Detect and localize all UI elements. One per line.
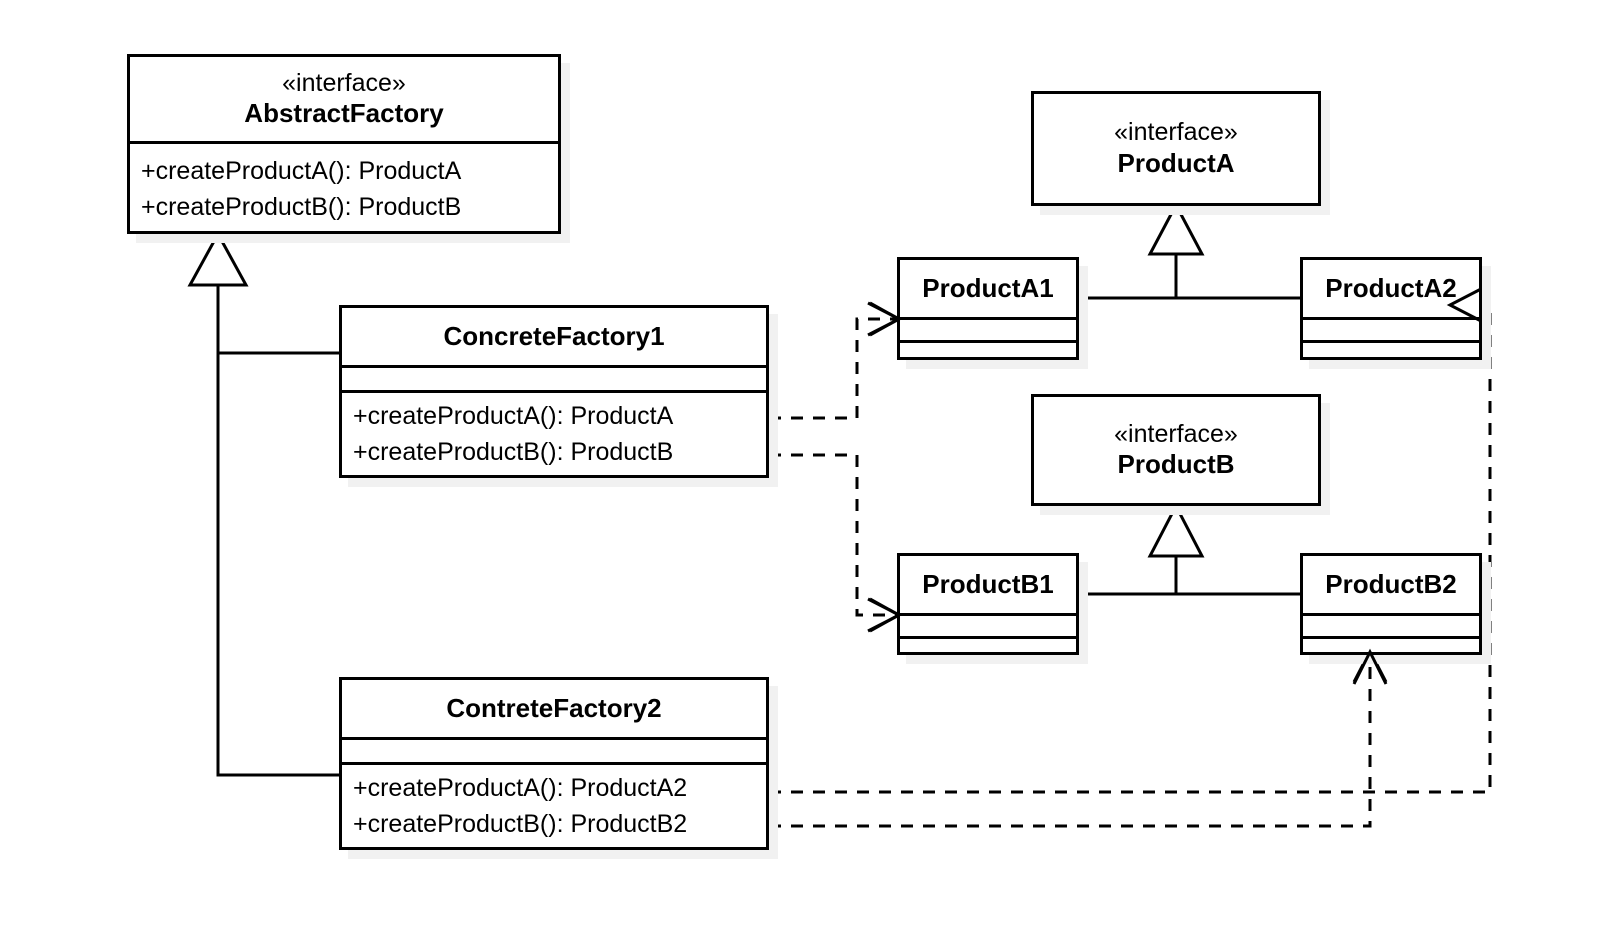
class-header-product-a1: ProductA1: [900, 260, 1076, 317]
class-header-product-a: «interface» ProductA: [1034, 94, 1318, 203]
class-box-product-b2[interactable]: ProductB2: [1300, 553, 1482, 655]
stereotype-label: «interface»: [1114, 420, 1238, 450]
class-name-label: ProductA1: [922, 273, 1053, 304]
generalization-triangle-abstractfactory: [190, 234, 246, 285]
dependency-path-cf2-b2: [769, 653, 1370, 826]
class-attributes-concrete-factory-1: [342, 365, 766, 390]
class-header-concrete-factory-2: ContreteFactory2: [342, 680, 766, 737]
dependency-concretefactory1-to-productb1: [769, 455, 899, 631]
class-attributes-product-a2: [1303, 317, 1479, 340]
dependency-contretefactory2-to-productb2: [769, 651, 1386, 826]
method-item: +createProductA(): ProductA: [141, 153, 558, 189]
dependency-path-cf2-a2: [769, 305, 1490, 792]
class-name-label: ProductB: [1118, 449, 1235, 480]
generalization-trunk-abstractfactory: [218, 283, 339, 775]
class-box-product-a[interactable]: «interface» ProductA: [1031, 91, 1321, 206]
class-methods-concrete-factory-2: +createProductA(): ProductA2 +createProd…: [342, 762, 766, 847]
class-attributes-product-b1: [900, 613, 1076, 636]
method-item: +createProductB(): ProductB2: [353, 806, 766, 842]
class-box-concrete-factory-1[interactable]: ConcreteFactory1 +createProductA(): Prod…: [339, 305, 769, 478]
class-methods-concrete-factory-1: +createProductA(): ProductA +createProdu…: [342, 390, 766, 475]
class-header-abstract-factory: «interface» AbstractFactory: [130, 57, 558, 141]
class-name-label: AbstractFactory: [244, 98, 443, 129]
class-methods-abstract-factory: +createProductA(): ProductA +createProdu…: [130, 141, 558, 234]
class-box-concrete-factory-2[interactable]: ContreteFactory2 +createProductA(): Prod…: [339, 677, 769, 850]
class-box-product-a1[interactable]: ProductA1: [897, 257, 1079, 360]
stereotype-label: «interface»: [282, 69, 406, 99]
class-box-product-b[interactable]: «interface» ProductB: [1031, 394, 1321, 506]
class-attributes-product-a1: [900, 317, 1076, 340]
class-header-product-b1: ProductB1: [900, 556, 1076, 613]
generalization-triangle-productb: [1150, 506, 1202, 556]
method-item: +createProductB(): ProductB: [141, 189, 558, 225]
class-methods-product-b2: [1303, 636, 1479, 652]
class-methods-product-a1: [900, 340, 1076, 357]
class-box-abstract-factory[interactable]: «interface» AbstractFactory +createProdu…: [127, 54, 561, 234]
class-name-label: ProductB1: [922, 569, 1053, 600]
uml-diagram-canvas: «interface» AbstractFactory +createProdu…: [0, 0, 1598, 938]
class-name-label: ProductA2: [1325, 273, 1456, 304]
class-header-concrete-factory-1: ConcreteFactory1: [342, 308, 766, 365]
dependency-concretefactory1-to-producta1: [769, 303, 899, 418]
class-header-product-b: «interface» ProductB: [1034, 397, 1318, 503]
class-header-product-a2: ProductA2: [1303, 260, 1479, 317]
dependency-path-cf1-b1: [769, 455, 897, 615]
class-box-product-a2[interactable]: ProductA2: [1300, 257, 1482, 360]
class-name-label: ConcreteFactory1: [443, 321, 664, 352]
class-attributes-product-b2: [1303, 613, 1479, 636]
class-header-product-b2: ProductB2: [1303, 556, 1479, 613]
class-methods-product-a2: [1303, 340, 1479, 357]
method-item: +createProductB(): ProductB: [353, 434, 766, 470]
class-attributes-concrete-factory-2: [342, 737, 766, 762]
generalization-triangle-producta: [1150, 205, 1202, 254]
generalization-abstractfactory-tree: [190, 234, 339, 775]
class-name-label: ContreteFactory2: [446, 693, 661, 724]
class-methods-product-b1: [900, 636, 1076, 652]
generalization-producta-tree: [1055, 205, 1300, 298]
method-item: +createProductA(): ProductA2: [353, 770, 766, 806]
method-item: +createProductA(): ProductA: [353, 398, 766, 434]
dependency-contretefactory2-to-producta2: [769, 289, 1490, 792]
class-box-product-b1[interactable]: ProductB1: [897, 553, 1079, 655]
class-name-label: ProductB2: [1325, 569, 1456, 600]
class-name-label: ProductA: [1118, 148, 1235, 179]
stereotype-label: «interface»: [1114, 118, 1238, 148]
generalization-productb-tree: [1055, 506, 1300, 594]
dependency-path-cf1-a1: [769, 319, 897, 418]
